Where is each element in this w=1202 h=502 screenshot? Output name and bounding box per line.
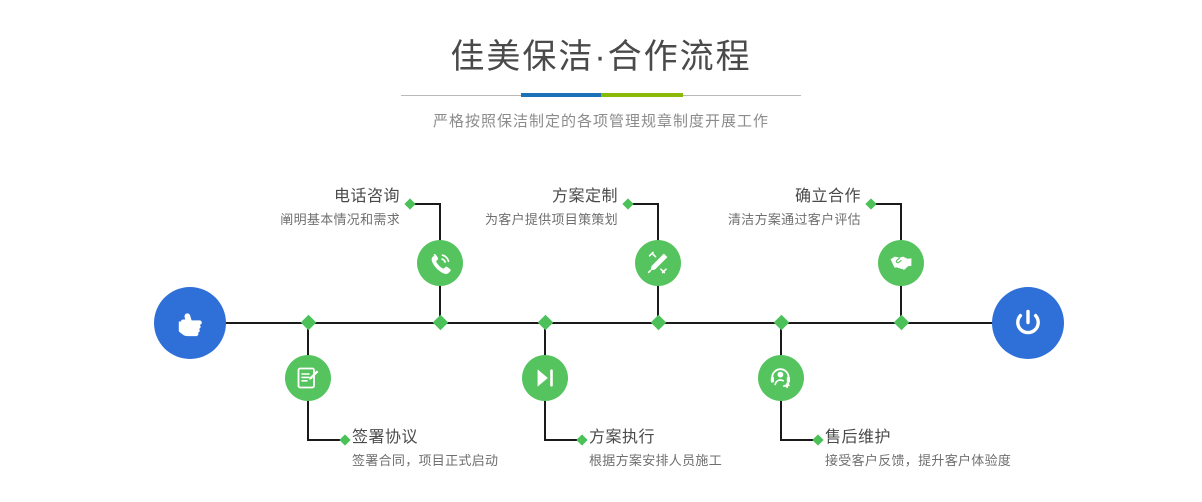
step-label-4: 方案执行 根据方案安排人员施工: [589, 427, 722, 471]
step-label-1: 电话咨询 阐明基本情况和需求: [280, 186, 400, 230]
label-marker-step-1: [404, 198, 415, 209]
step-title-3: 方案定制: [485, 186, 618, 208]
step-label-2: 签署协议 签署合同，项目正式启动: [352, 427, 498, 471]
step-desc-1: 阐明基本情况和需求: [280, 210, 400, 230]
cooperation-flow-infographic: 佳美保洁·合作流程 严格按照保洁制定的各项管理规章制度开展工作: [0, 0, 1202, 502]
timeline-marker-step-6: [774, 315, 790, 331]
timeline-marker-step-5: [894, 315, 910, 331]
page-title: 佳美保洁·合作流程: [0, 34, 1202, 80]
step-label-6: 售后维护 接受客户反馈，提升客户体验度: [825, 427, 1011, 471]
label-marker-step-5: [865, 198, 876, 209]
label-marker-step-6: [812, 434, 823, 445]
step-desc-6: 接受客户反馈，提升客户体验度: [825, 451, 1011, 471]
step-title-1: 电话咨询: [280, 186, 400, 208]
flow-start-node[interactable]: [154, 287, 226, 359]
phone-call-icon: [427, 250, 453, 276]
step-desc-2: 签署合同，项目正式启动: [352, 451, 498, 471]
divider-segment-blue: [521, 93, 601, 97]
step-desc-4: 根据方案安排人员施工: [589, 451, 722, 471]
step-label-3: 方案定制 为客户提供项目策策划: [485, 186, 618, 230]
pointing-hand-icon: [171, 304, 209, 342]
step-icon-document-sign[interactable]: [285, 355, 331, 401]
timeline-marker-step-2: [301, 315, 317, 331]
step-title-2: 签署协议: [352, 427, 498, 449]
step-title-6: 售后维护: [825, 427, 1011, 449]
flow-end-node[interactable]: [992, 287, 1064, 359]
step-desc-5: 清洁方案通过客户评估: [728, 210, 861, 230]
timeline-marker-step-4: [538, 315, 554, 331]
handshake-icon: [888, 250, 914, 276]
page-subtitle: 严格按照保洁制定的各项管理规章制度开展工作: [0, 111, 1202, 133]
page-header: 佳美保洁·合作流程 严格按照保洁制定的各项管理规章制度开展工作: [0, 34, 1202, 133]
step-desc-3: 为客户提供项目策策划: [485, 210, 618, 230]
pencil-design-icon: [645, 250, 671, 276]
document-sign-icon: [295, 365, 321, 391]
timeline-marker-step-3: [651, 315, 667, 331]
title-divider: [401, 90, 801, 102]
step-icon-phone-call[interactable]: [417, 240, 463, 286]
step-icon-play-execute[interactable]: [522, 355, 568, 401]
label-marker-step-2: [339, 434, 350, 445]
step-icon-handshake[interactable]: [878, 240, 924, 286]
headset-support-icon: [768, 365, 794, 391]
step-icon-pencil-design[interactable]: [635, 240, 681, 286]
divider-segment-green: [601, 93, 683, 97]
step-title-5: 确立合作: [728, 186, 861, 208]
label-marker-step-3: [622, 198, 633, 209]
step-label-5: 确立合作 清洁方案通过客户评估: [728, 186, 861, 230]
play-execute-icon: [532, 365, 558, 391]
timeline-marker-step-1: [433, 315, 449, 331]
label-marker-step-4: [576, 434, 587, 445]
step-icon-headset-support[interactable]: [758, 355, 804, 401]
step-title-4: 方案执行: [589, 427, 722, 449]
power-icon: [1009, 304, 1047, 342]
